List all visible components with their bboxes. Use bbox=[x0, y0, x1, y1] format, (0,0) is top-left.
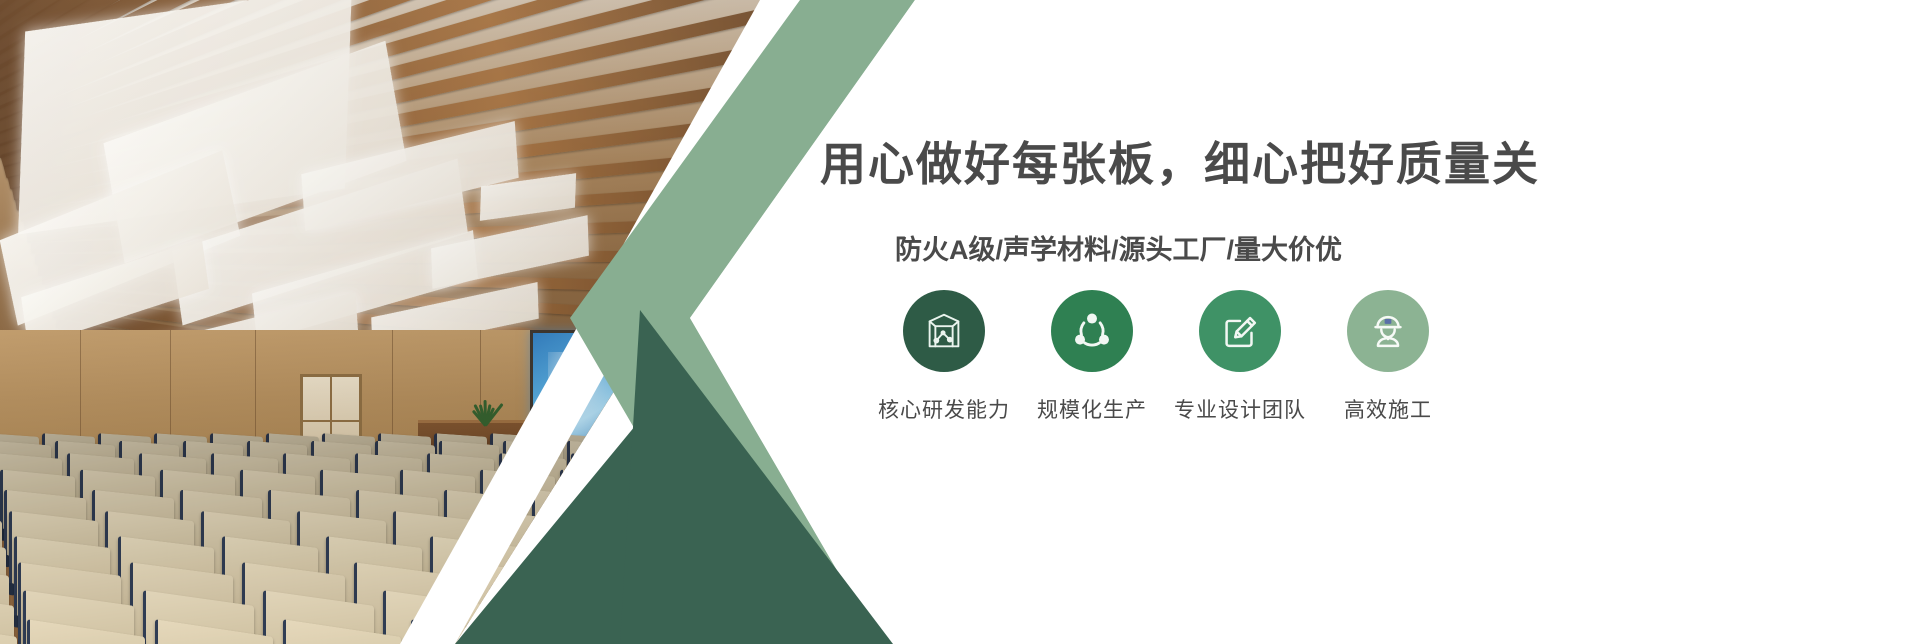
banner-content: 用心做好每张板，细心把好质量关 防火A级/声学材料/源头工厂/量大价优 bbox=[820, 0, 1920, 644]
share-nodes-icon bbox=[1051, 290, 1133, 372]
feature-list: 核心研发能力 规模化生产 bbox=[870, 290, 1462, 424]
banner-headline: 用心做好每张板，细心把好质量关 bbox=[820, 128, 1640, 194]
feature-label: 核心研发能力 bbox=[878, 394, 1010, 424]
feature-item-scaled-production[interactable]: 规模化生产 bbox=[1018, 290, 1166, 424]
promo-banner: 用心做好每张板，细心把好质量关 防火A级/声学材料/源头工厂/量大价优 bbox=[0, 0, 1920, 644]
box-network-icon bbox=[903, 290, 985, 372]
feature-item-core-rd[interactable]: 核心研发能力 bbox=[870, 290, 1018, 424]
potted-plant bbox=[470, 392, 500, 426]
hard-hat-worker-icon bbox=[1347, 290, 1429, 372]
feature-label: 高效施工 bbox=[1344, 394, 1432, 424]
feature-item-design-team[interactable]: 专业设计团队 bbox=[1166, 290, 1314, 424]
feature-item-efficient-construction[interactable]: 高效施工 bbox=[1314, 290, 1462, 424]
feature-label: 规模化生产 bbox=[1037, 394, 1147, 424]
pencil-edit-icon bbox=[1199, 290, 1281, 372]
banner-subtitle: 防火A级/声学材料/源头工厂/量大价优 bbox=[895, 228, 1342, 267]
feature-label: 专业设计团队 bbox=[1174, 394, 1306, 424]
